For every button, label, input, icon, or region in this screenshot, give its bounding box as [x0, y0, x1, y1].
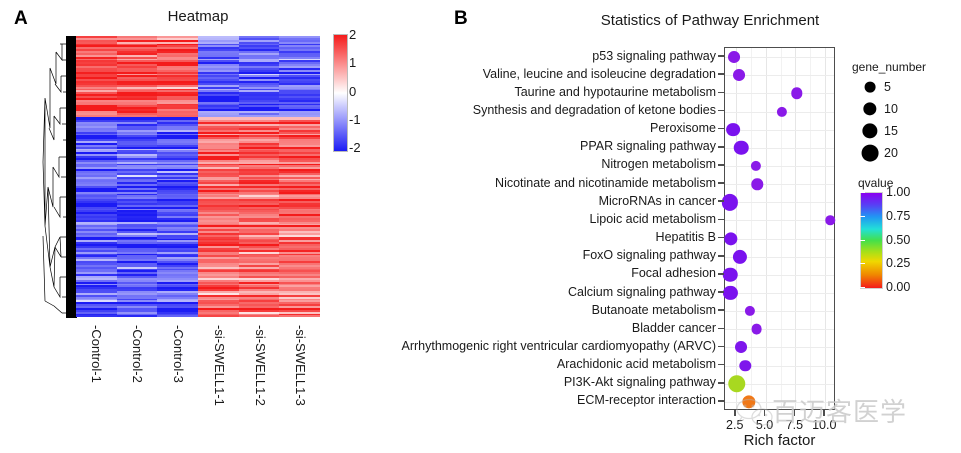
y-axis-tick — [718, 273, 724, 275]
pathway-label: Arachidonic acid metabolism — [557, 358, 716, 371]
qvalue-legend-tick-label: 0.75 — [886, 209, 910, 223]
qvalue-legend-tick-label: 1.00 — [886, 185, 910, 199]
heatmap-legend-tick-neg2: -2 — [349, 140, 361, 155]
heatmap-cell — [279, 315, 320, 317]
heatmap-column — [157, 36, 198, 318]
horizontal-gridline — [725, 293, 834, 294]
y-axis-tick — [718, 92, 724, 94]
pathway-label: Bladder cancer — [632, 322, 716, 335]
heatmap-column — [239, 36, 280, 318]
gene-number-legend-row: 5 — [858, 78, 918, 96]
heatmap-column — [198, 36, 239, 318]
pathway-label: Hepatitis B — [656, 231, 716, 244]
horizontal-gridline — [725, 202, 834, 203]
gene-number-legend-dot — [862, 145, 879, 162]
horizontal-gridline — [725, 57, 834, 58]
heatmap-legend-tick-neg1: -1 — [349, 112, 361, 127]
pathway-label: Calcium signaling pathway — [568, 286, 716, 299]
gene-number-legend-row: 15 — [858, 122, 918, 140]
pathway-bubble[interactable] — [751, 161, 761, 171]
pathway-bubble[interactable] — [728, 375, 745, 392]
panel-b-letter: B — [454, 8, 468, 30]
pathway-label: p53 signaling pathway — [592, 50, 716, 63]
y-axis-tick — [718, 182, 724, 184]
pathway-bubble[interactable] — [726, 123, 740, 137]
x-axis-title: Rich factor — [724, 432, 835, 449]
heatmap-cell — [76, 315, 117, 317]
heatmap-cell — [157, 315, 198, 317]
y-axis-tick — [718, 309, 724, 311]
pathway-bubble[interactable] — [745, 306, 755, 316]
horizontal-gridline — [725, 220, 834, 221]
pathway-bubble[interactable] — [733, 250, 747, 264]
heatmap-legend-tick-2: 2 — [349, 27, 356, 42]
gene-number-legend-dot — [863, 102, 876, 115]
pathway-label: Butanoate metabolism — [592, 304, 716, 317]
pathway-bubble[interactable] — [791, 88, 802, 99]
pathway-label: Lipoic acid metabolism — [590, 213, 716, 226]
horizontal-gridline — [725, 275, 834, 276]
gene-number-legend-row: 10 — [858, 100, 918, 118]
qvalue-legend-notch — [860, 287, 865, 288]
pathway-label: FoxO signaling pathway — [583, 249, 716, 262]
gene-number-legend-title: gene_number — [852, 60, 926, 74]
pathway-label: Focal adhesion — [631, 267, 716, 280]
pathway-label: ECM-receptor interaction — [577, 394, 716, 407]
bubble-chart-title: Statistics of Pathway Enrichment — [500, 12, 920, 29]
pathway-label: Nitrogen metabolism — [601, 158, 716, 171]
y-axis-tick — [718, 164, 724, 166]
heatmap-sample-label-3: -Control-3 — [171, 325, 186, 383]
heatmap-title: Heatmap — [76, 8, 320, 25]
qvalue-legend-tick-label: 0.25 — [886, 256, 910, 270]
horizontal-gridline — [725, 311, 834, 312]
pathway-label: Synthesis and degradation of ketone bodi… — [473, 104, 716, 117]
vertical-gridline — [825, 48, 826, 409]
pathway-bubble[interactable] — [735, 342, 747, 354]
y-axis-tick — [718, 400, 724, 402]
pathway-bubble[interactable] — [751, 324, 762, 335]
heatmap-sample-label-1: -Control-1 — [89, 325, 104, 383]
qvalue-legend-notch — [860, 192, 865, 193]
horizontal-gridline — [725, 184, 834, 185]
heatmap-cell — [198, 315, 239, 317]
gene-number-legend-row: 20 — [858, 144, 918, 162]
heatmap-column — [76, 36, 117, 318]
heatmap-column — [279, 36, 320, 318]
heatmap-cell — [239, 315, 280, 317]
y-axis-tick — [718, 237, 724, 239]
pathway-label: MicroRNAs in cancer — [599, 195, 716, 208]
pathway-label: Taurine and hypotaurine metabolism — [514, 86, 716, 99]
heatmap-sample-label-5: -si-SWELL1-2 — [253, 325, 268, 406]
horizontal-gridline — [725, 93, 834, 94]
vertical-gridline — [795, 48, 796, 409]
pathway-bubble[interactable] — [734, 141, 749, 156]
wechat-icon — [733, 396, 777, 430]
y-axis-tick — [718, 55, 724, 57]
panel-a-heatmap: A Heatmap -Control-1 -Control-2 -Control… — [0, 0, 440, 453]
vertical-gridline — [736, 48, 737, 409]
pathway-bubble[interactable] — [733, 69, 745, 81]
y-axis-tick — [718, 200, 724, 202]
pathway-label: Peroxisome — [650, 122, 716, 135]
pathway-bubble[interactable] — [777, 106, 787, 116]
pathway-label: PPAR signaling pathway — [580, 140, 716, 153]
y-axis-tick — [718, 110, 724, 112]
heatmap-legend-tick-1: 1 — [349, 55, 356, 70]
heatmap-matrix — [76, 36, 320, 318]
heatmap-column — [117, 36, 158, 318]
y-axis-tick — [718, 291, 724, 293]
gene-number-legend-label: 20 — [884, 146, 898, 160]
horizontal-gridline — [725, 130, 834, 131]
y-axis-tick — [718, 128, 724, 130]
heatmap-sample-label-4: -si-SWELL1-1 — [212, 325, 227, 406]
qvalue-legend-notch — [860, 216, 865, 217]
vertical-gridline — [751, 48, 752, 409]
heatmap-sample-label-6: -si-SWELL1-3 — [293, 325, 308, 406]
pathway-bubble[interactable] — [740, 360, 751, 371]
pathway-label: Arrhythmogenic right ventricular cardiom… — [402, 340, 716, 353]
gene-number-legend-dot — [865, 82, 876, 93]
horizontal-gridline — [725, 239, 834, 240]
vertical-gridline — [810, 48, 811, 409]
vertical-gridline — [781, 48, 782, 409]
qvalue-legend-tick-label: 0.00 — [886, 280, 910, 294]
pathway-label: Valine, leucine and isoleucine degradati… — [483, 68, 716, 81]
pathway-bubble[interactable] — [723, 268, 738, 283]
panel-b-pathway-enrichment: B Statistics of Pathway Enrichment Rich … — [440, 0, 961, 453]
y-axis-tick — [718, 382, 724, 384]
gene-number-legend-label: 15 — [884, 124, 898, 138]
y-axis-tick — [718, 73, 724, 75]
gene-number-legend-label: 5 — [884, 80, 891, 94]
qvalue-legend-tick-label: 0.50 — [886, 233, 910, 247]
horizontal-gridline — [725, 166, 834, 167]
qvalue-legend-notch — [860, 240, 865, 241]
heatmap-legend-tick-0: 0 — [349, 84, 356, 99]
bubble-plot-area — [724, 47, 835, 410]
panel-a-letter: A — [14, 8, 28, 30]
gene-number-legend-label: 10 — [884, 102, 898, 116]
pathway-bubble[interactable] — [825, 216, 834, 225]
pathway-bubble[interactable] — [728, 51, 740, 63]
y-axis-tick — [718, 146, 724, 148]
y-axis-tick — [718, 255, 724, 257]
qvalue-legend-notch — [860, 263, 865, 264]
pathway-label: PI3K-Akt signaling pathway — [564, 376, 716, 389]
heatmap-sample-label-2: -Control-2 — [130, 325, 145, 383]
y-axis-tick — [718, 219, 724, 221]
gene-number-legend-dot — [862, 123, 877, 138]
heatmap-cell — [117, 315, 158, 317]
y-axis-tick — [718, 346, 724, 348]
y-axis-tick — [718, 364, 724, 366]
pathway-label: Nicotinate and nicotinamide metabolism — [495, 177, 716, 190]
heatmap-color-legend-bar — [333, 34, 348, 152]
horizontal-gridline — [725, 329, 834, 330]
watermark-text: 百迈客医学 — [772, 392, 907, 429]
vertical-gridline — [766, 48, 767, 409]
pathway-bubble[interactable] — [752, 178, 763, 189]
y-axis-tick — [718, 328, 724, 330]
